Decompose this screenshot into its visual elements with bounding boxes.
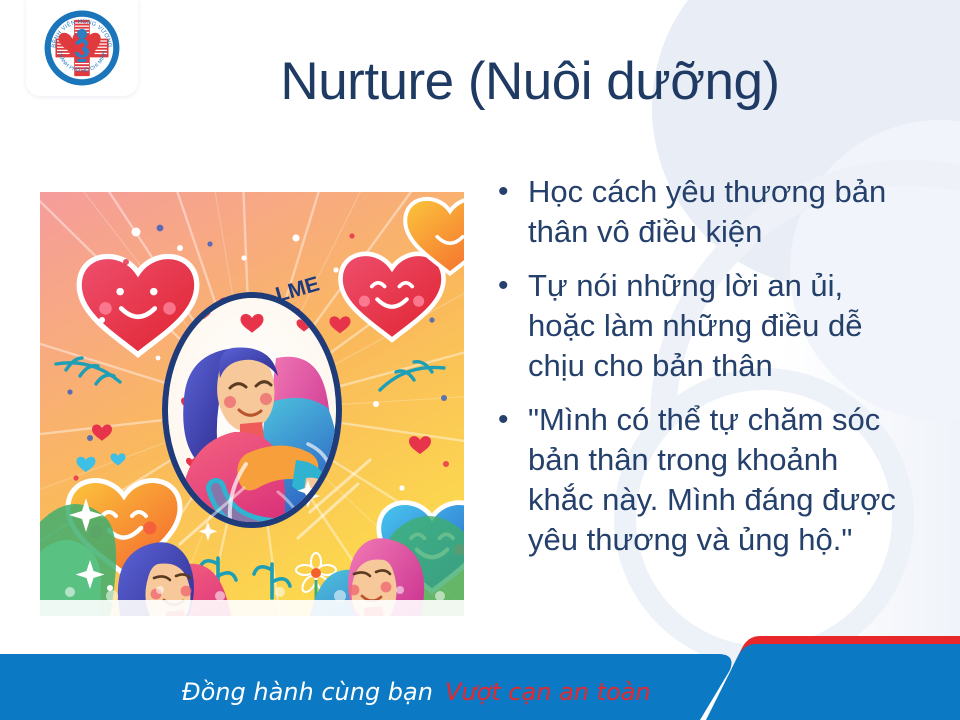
list-item: • Học cách yêu thương bản thân vô điều k…	[492, 172, 912, 252]
bullet-list: • Học cách yêu thương bản thân vô điều k…	[492, 172, 912, 574]
hospital-logo-plate: BỆNH VIỆN HÙNG VƯƠNG THÀNH PHỐ HỒ CHÍ MI…	[26, 0, 138, 96]
slide-title: Nurture (Nuôi dưỡng)	[150, 54, 910, 110]
bullet-marker-icon: •	[492, 266, 528, 306]
slide: BỆNH VIỆN HÙNG VƯƠNG THÀNH PHỐ HỒ CHÍ MI…	[0, 0, 960, 720]
footer-right-shape	[706, 644, 960, 720]
footer-bar: Đồng hành cùng bạnVượt cạn an toàn	[0, 624, 960, 720]
hospital-logo-icon: BỆNH VIỆN HÙNG VƯƠNG THÀNH PHỐ HỒ CHÍ MI…	[43, 9, 121, 87]
bullet-text: Tự nói những lời an ủi, hoặc làm những đ…	[528, 266, 912, 386]
bullet-marker-icon: •	[492, 172, 528, 212]
footer-tagline-white: Đồng hành cùng bạn	[182, 678, 433, 706]
bullet-marker-icon: •	[492, 400, 528, 440]
footer-tagline-red: Vượt cạn an toàn	[445, 678, 651, 706]
list-item: • Tự nói những lời an ủi, hoặc làm những…	[492, 266, 912, 386]
footer-tagline: Đồng hành cùng bạnVượt cạn an toàn	[182, 678, 651, 706]
bullet-text: "Mình có thể tự chăm sóc bản thân trong …	[528, 400, 912, 560]
self-love-hug-illustration: LME	[40, 192, 464, 616]
list-item: • "Mình có thể tự chăm sóc bản thân tron…	[492, 400, 912, 560]
illustration-artwork: LME	[40, 192, 464, 616]
bullet-text: Học cách yêu thương bản thân vô điều kiệ…	[528, 172, 912, 252]
